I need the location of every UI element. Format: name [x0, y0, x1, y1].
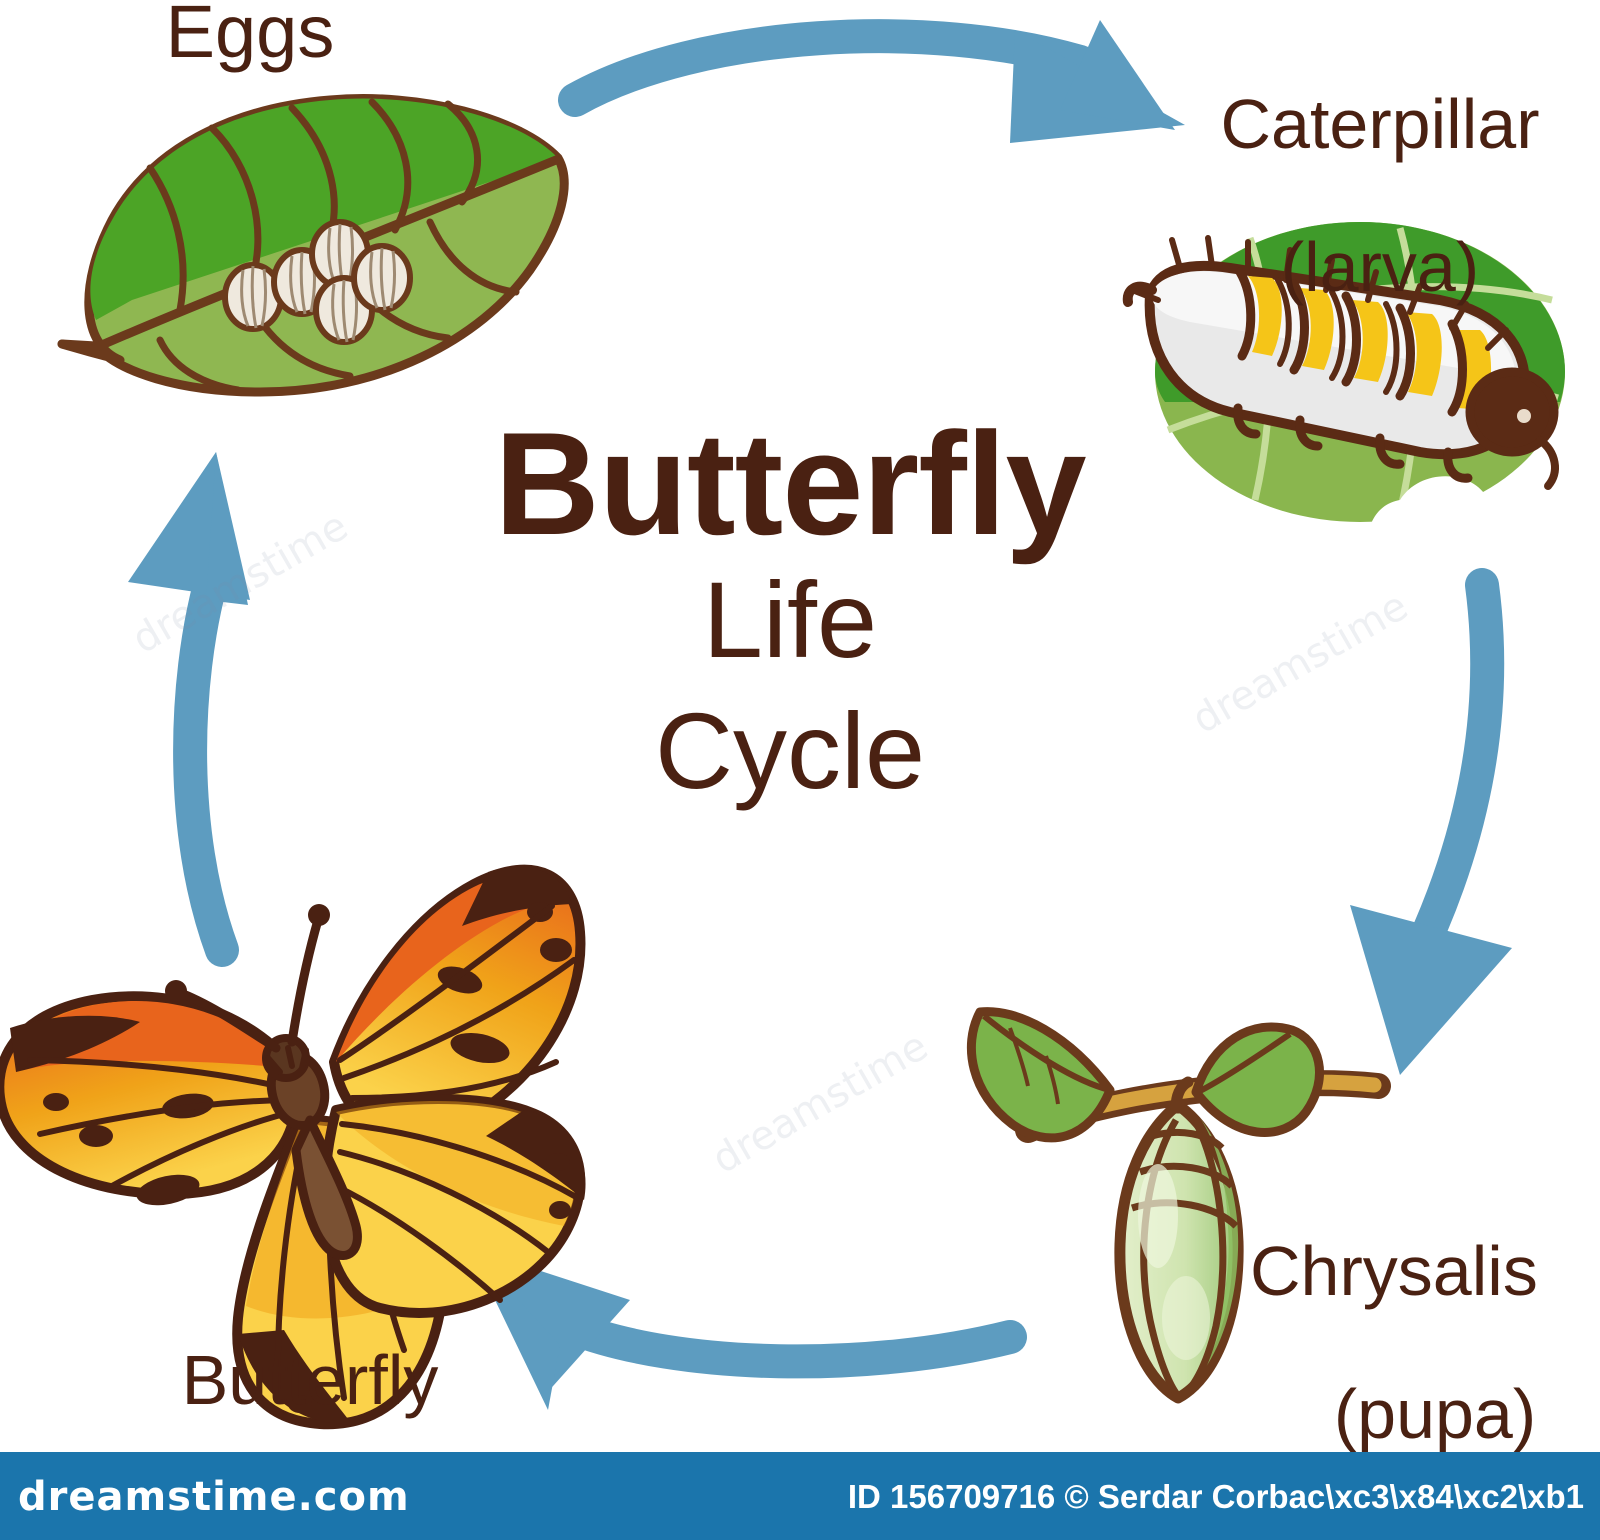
stage-label-caterpillar-sub: (larva) — [1160, 232, 1600, 303]
arrow-butterfly-to-eggs — [128, 452, 250, 950]
dreamstime-logo: dreamstime.com — [18, 1474, 410, 1520]
stage-label-chrysalis-name: Chrysalis — [1250, 1236, 1600, 1307]
stage-label-caterpillar-name: Caterpillar — [1160, 89, 1600, 160]
arrow-chrysalis-to-butterfly — [470, 1248, 1010, 1410]
stage-label-chrysalis-sub: (pupa) — [1250, 1379, 1600, 1450]
illustration-eggs-on-leaf — [62, 99, 564, 392]
arrow-caterpillar-to-chrysalis — [1350, 585, 1512, 1075]
dreamstime-footer-bar: dreamstime.com ID 156709716 © Serdar Cor… — [0, 1452, 1600, 1540]
stage-label-caterpillar: Caterpillar (larva) — [1160, 18, 1600, 375]
stage-label-butterfly: Butterfly — [80, 1345, 540, 1416]
title-second-line: Life — [430, 554, 1150, 686]
diagram-title: Butterfly Life Cycle — [430, 415, 1150, 817]
title-third-line: Cycle — [430, 685, 1150, 817]
title-main-line: Butterfly — [430, 415, 1150, 554]
stage-label-eggs: Eggs — [60, 0, 440, 69]
image-credit-text: ID 156709716 © Serdar Corbac\xc3\x84\xc2… — [848, 1478, 1584, 1516]
diagram-canvas: Eggs Caterpillar (larva) Chrysalis (pupa… — [0, 0, 1600, 1540]
arrow-eggs-to-caterpillar — [575, 20, 1185, 143]
